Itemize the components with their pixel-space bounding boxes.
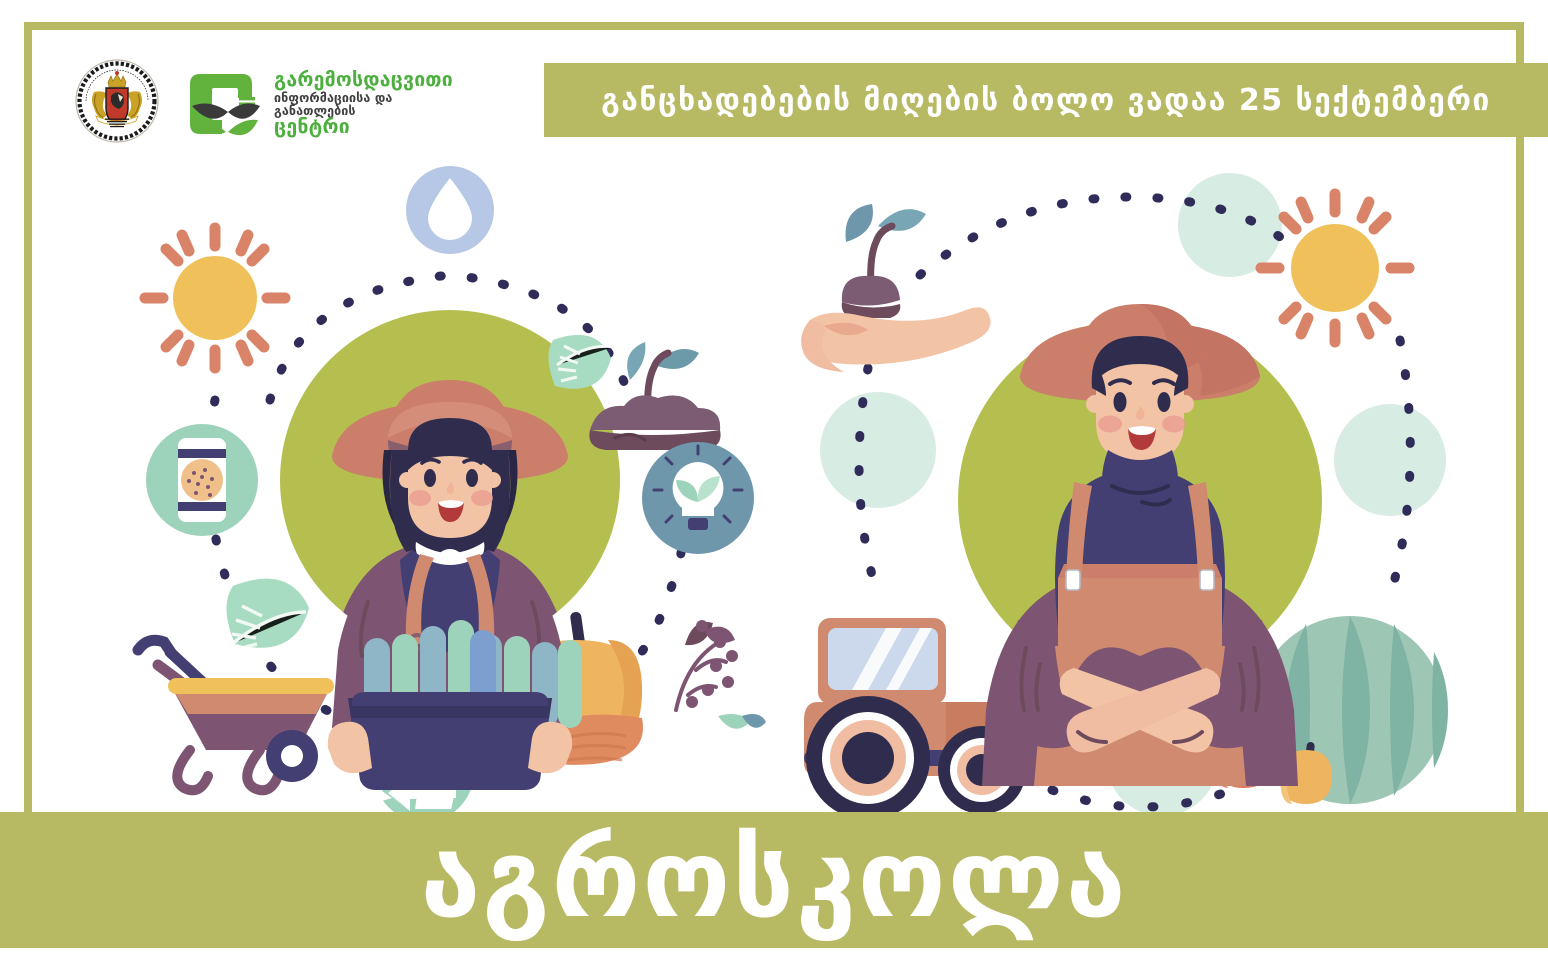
organization-logo: გარემოსდაცვითი ინფორმაციისა და განათლები… [190, 62, 440, 146]
eco-lightbulb-icon [642, 442, 754, 554]
illustration-stage [0, 150, 1548, 810]
wheelbarrow-icon [138, 640, 334, 790]
poster-title: აგროსკოლა [420, 826, 1127, 934]
decorative-circle-2 [820, 392, 936, 508]
logo-line-2: ინფორმაციისა და განათლების [274, 91, 453, 117]
logo-line-3: ცენტრი [274, 117, 453, 137]
poster-root: გარემოსდაცვითი ინფორმაციისა და განათლები… [0, 0, 1548, 973]
sun-icon [1261, 194, 1409, 342]
seed-jar-icon [146, 424, 258, 536]
decorative-circle-1 [1178, 173, 1282, 277]
decorative-circle-3 [1334, 404, 1446, 516]
water-drop-icon [406, 166, 494, 254]
deadline-banner: განცხადებების მიღების ბოლო ვადაა 25 სექტ… [544, 63, 1548, 137]
leaf-icon [548, 335, 613, 389]
vegetable-crate [328, 620, 582, 790]
sun-icon [145, 228, 285, 368]
right-illustration [790, 150, 1470, 810]
left-illustration [120, 150, 800, 810]
georgian-coat-of-arms-seal [74, 58, 160, 144]
hand-holding-seedling-icon [801, 204, 991, 372]
logo-mark-icon [190, 66, 266, 142]
logo-line-1: გარემოსდაცვითი [274, 70, 453, 90]
deadline-banner-text: განცხადებების მიღების ბოლო ვადაა 25 სექტ… [601, 83, 1491, 118]
footer-band: აგროსკოლა [0, 812, 1548, 948]
leaf-icon-2 [226, 579, 309, 650]
